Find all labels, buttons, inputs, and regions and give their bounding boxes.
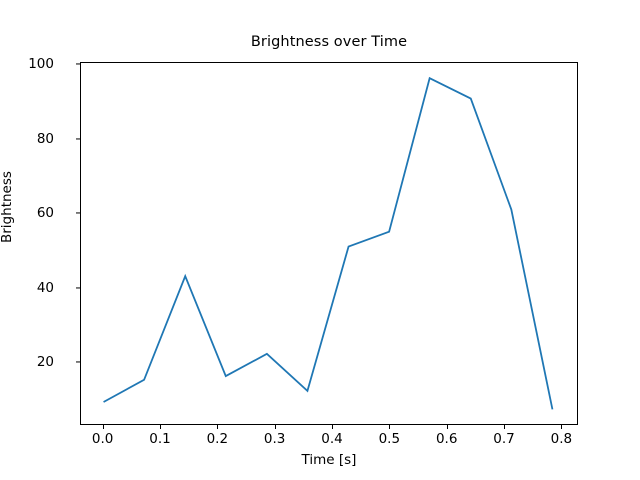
x-tick-label: 0.7 xyxy=(481,431,527,447)
x-tick-label: 0.8 xyxy=(538,431,584,447)
x-tick-mark xyxy=(160,425,161,429)
line-series-svg xyxy=(81,63,577,424)
y-tick-label: 100 xyxy=(14,56,54,72)
x-tick-label: 0.4 xyxy=(309,431,355,447)
x-tick-mark xyxy=(103,425,104,429)
x-tick-mark xyxy=(217,425,218,429)
x-tick-label: 0.5 xyxy=(366,431,412,447)
x-tick-label: 0.6 xyxy=(424,431,470,447)
chart-title: Brightness over Time xyxy=(80,34,578,50)
x-tick-mark xyxy=(504,425,505,429)
y-tick-label: 60 xyxy=(14,205,54,221)
y-tick-label: 40 xyxy=(14,280,54,296)
x-axis-label: Time [s] xyxy=(80,452,578,468)
x-tick-label: 0.3 xyxy=(252,431,298,447)
y-tick-label: 20 xyxy=(14,354,54,370)
plot-area xyxy=(80,62,578,425)
y-tick-label: 80 xyxy=(14,131,54,147)
x-tick-label: 0.1 xyxy=(137,431,183,447)
brightness-line-series xyxy=(104,78,553,409)
x-tick-mark xyxy=(389,425,390,429)
x-tick-mark xyxy=(275,425,276,429)
matplotlib-figure: Brightness over Time Brightness Time [s]… xyxy=(0,0,640,480)
x-tick-mark xyxy=(561,425,562,429)
x-tick-label: 0.0 xyxy=(80,431,126,447)
y-axis-label: Brightness xyxy=(0,171,15,243)
x-tick-label: 0.2 xyxy=(194,431,240,447)
x-tick-mark xyxy=(447,425,448,429)
x-tick-mark xyxy=(332,425,333,429)
